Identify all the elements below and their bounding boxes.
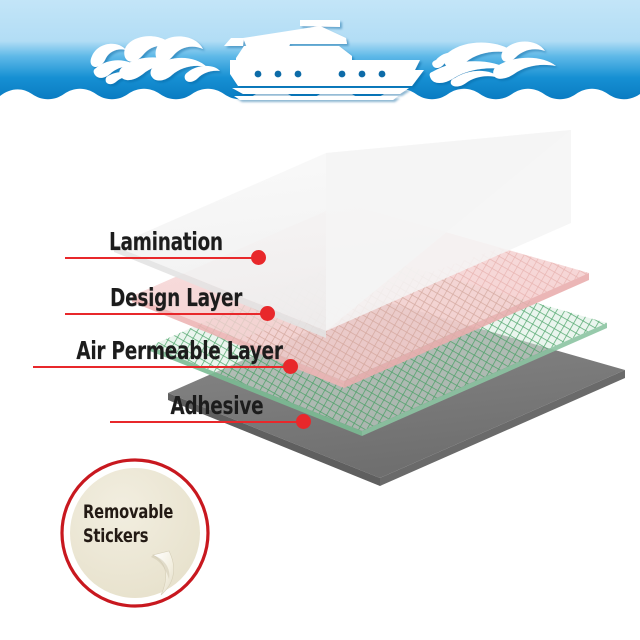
callout-air-permeable-layer[interactable]: Air Permeable Layer xyxy=(0,334,305,376)
callout-label-design-layer: Design Layer xyxy=(110,285,242,311)
callout-dot-air-permeable-layer[interactable] xyxy=(283,359,298,374)
callout-lamination[interactable]: Lamination xyxy=(0,225,275,267)
callout-dot-design-layer[interactable] xyxy=(260,306,275,321)
removable-stickers-badge[interactable]: Removable Stickers xyxy=(57,455,213,611)
callout-leader-line-lamination xyxy=(65,257,255,259)
callout-dot-lamination[interactable] xyxy=(251,250,266,265)
callout-leader-line-adhesive xyxy=(110,421,300,423)
callout-design-layer[interactable]: Design Layer xyxy=(0,281,285,323)
banner-graphic xyxy=(0,0,640,115)
badge-text: Removable Stickers xyxy=(83,500,179,548)
callout-leader-line-air-permeable-layer xyxy=(33,366,287,368)
ocean-banner xyxy=(0,0,640,115)
callout-dot-adhesive[interactable] xyxy=(296,414,311,429)
callout-label-adhesive: Adhesive xyxy=(170,393,263,419)
callout-leader-line-design-layer xyxy=(65,313,264,315)
sticker-layers-infographic: Lamination Design Layer Air Permeable La… xyxy=(0,0,640,640)
badge-text-line-2: Stickers xyxy=(83,524,179,548)
callout-label-air-permeable-layer: Air Permeable Layer xyxy=(77,338,283,364)
badge-text-line-1: Removable xyxy=(83,500,179,524)
callout-adhesive[interactable]: Adhesive xyxy=(0,389,320,431)
callout-label-lamination: Lamination xyxy=(109,229,223,255)
